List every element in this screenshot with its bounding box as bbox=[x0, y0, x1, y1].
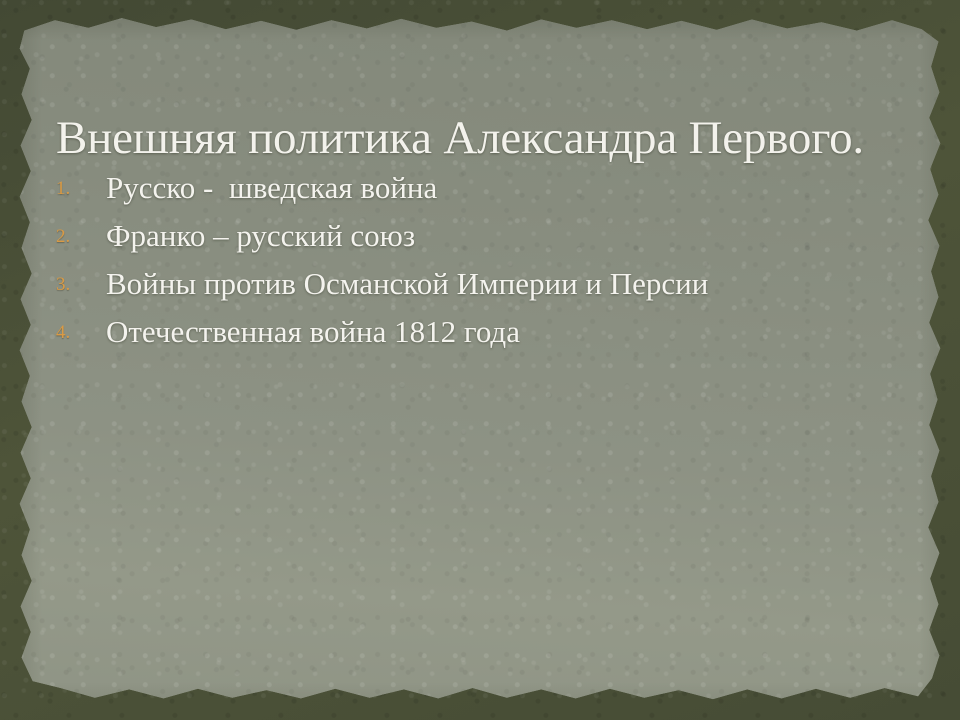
list-item: 3. Войны против Османской Империи и Перс… bbox=[50, 260, 930, 308]
list-item: 1. Русско - шведская война bbox=[50, 164, 930, 212]
list-item: 2. Франко – русский союз bbox=[50, 212, 930, 260]
list-item-label: Русско - шведская война bbox=[106, 171, 437, 204]
list-item-number: 3. bbox=[50, 275, 106, 294]
presentation-slide: Внешняя политика Александра Первого. 1. … bbox=[0, 0, 960, 720]
list-item-label: Отечественная война 1812 года bbox=[106, 315, 520, 348]
list-item-number: 1. bbox=[50, 179, 106, 198]
slide-title: Внешняя политика Александра Первого. bbox=[56, 115, 916, 162]
list-item-number: 2. bbox=[50, 227, 106, 246]
list-item-number: 4. bbox=[50, 323, 106, 342]
list-item-label: Франко – русский союз bbox=[106, 219, 415, 252]
slide-bullet-list: 1. Русско - шведская война 2. Франко – р… bbox=[50, 164, 930, 356]
list-item: 4. Отечественная война 1812 года bbox=[50, 308, 930, 356]
list-item-label: Войны против Османской Империи и Персии bbox=[106, 267, 708, 300]
slide-content: Внешняя политика Александра Первого. 1. … bbox=[0, 0, 960, 720]
